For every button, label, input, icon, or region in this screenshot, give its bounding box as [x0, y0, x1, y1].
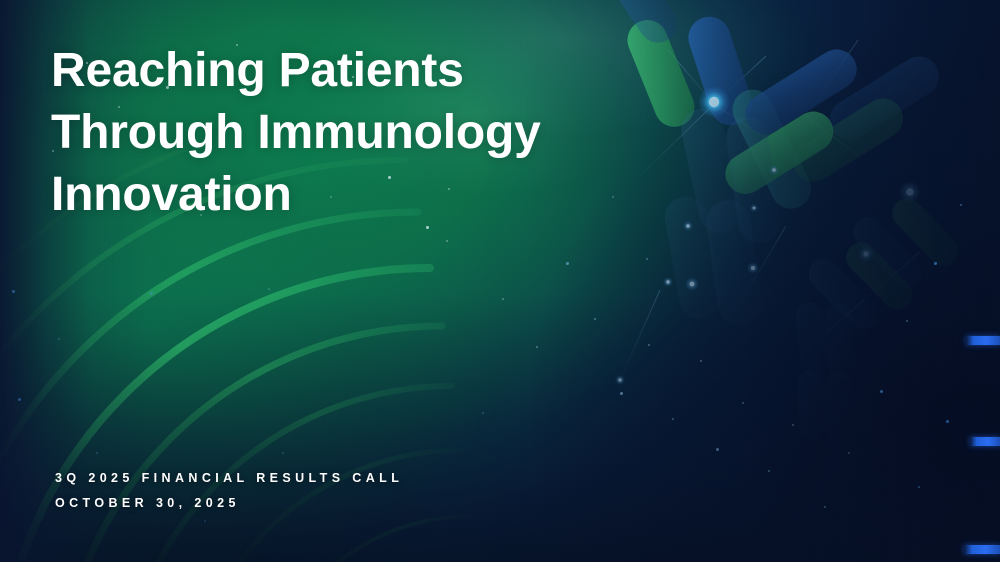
molecule-node-glow: [698, 86, 730, 118]
slide-title: Reaching Patients Through Immunology Inn…: [51, 40, 671, 226]
title-slide: Reaching Patients Through Immunology Inn…: [0, 0, 1000, 562]
right-edge-blue-bar-2: [970, 437, 1000, 446]
slide-title-line-2: Through Immunology: [51, 102, 671, 164]
subtitle-line-date: October 30, 2025: [55, 491, 403, 516]
right-edge-blue-bar-1: [966, 336, 1000, 345]
slide-subtitle: 3Q 2025 Financial Results Call October 3…: [55, 466, 403, 516]
subtitle-line-event: 3Q 2025 Financial Results Call: [55, 466, 403, 491]
slide-title-line-1: Reaching Patients: [51, 40, 671, 102]
slide-title-line-3: Innovation: [51, 164, 671, 226]
right-edge-blue-bar-3: [964, 545, 1000, 554]
